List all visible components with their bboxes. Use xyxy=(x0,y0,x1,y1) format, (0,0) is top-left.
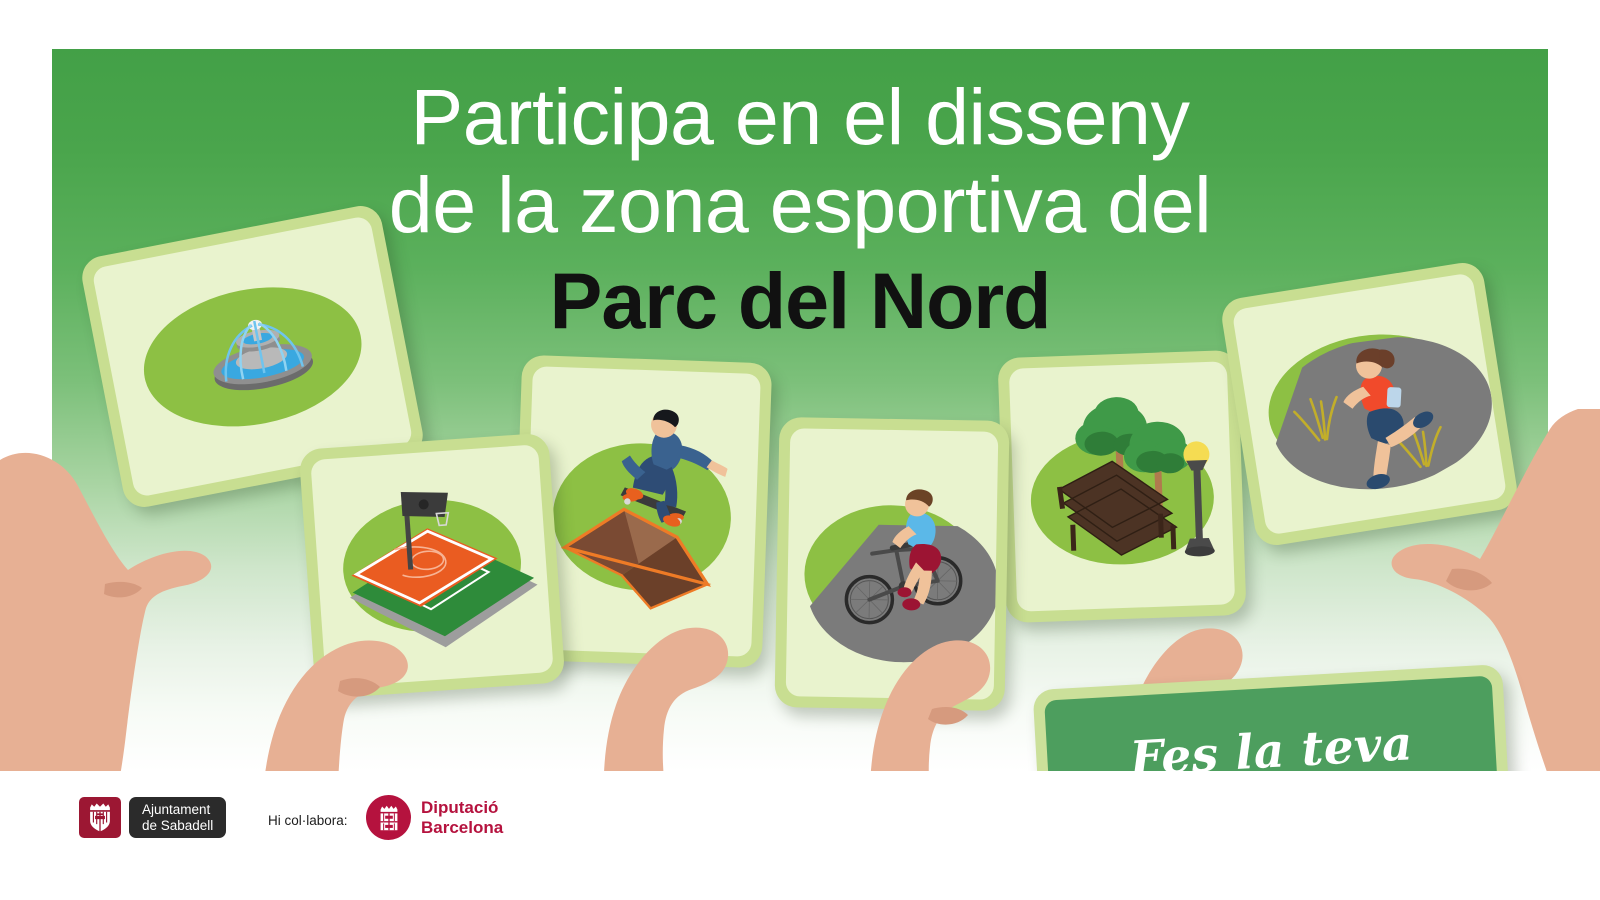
sabadell-shield-icon xyxy=(79,797,121,838)
card-park-bench[interactable] xyxy=(997,350,1246,623)
sports-court-icon xyxy=(310,444,553,687)
card-cyclist[interactable] xyxy=(774,417,1009,711)
crown-shield-icon xyxy=(86,802,114,833)
ajuntament-line2: de Sabadell xyxy=(142,818,213,834)
poster-stage: Participa en el disseny de la zona espor… xyxy=(0,0,1600,900)
runner-icon xyxy=(1232,272,1508,535)
footer: Ajuntament de Sabadell Hi col·labora: Di… xyxy=(0,771,1600,900)
cyclist-icon xyxy=(786,428,999,700)
banner: Participa en el disseny de la zona espor… xyxy=(52,49,1548,771)
ajuntament-line1: Ajuntament xyxy=(142,802,213,818)
logo-diputacio-barcelona[interactable]: Diputació Barcelona xyxy=(366,795,503,840)
collaborator-label: Hi col·labora: xyxy=(268,813,348,828)
diputacio-disc-icon xyxy=(366,795,411,840)
diputacio-line2: Barcelona xyxy=(421,818,503,838)
diputacio-name: Diputació Barcelona xyxy=(421,798,503,838)
card-sports-court-inner xyxy=(310,444,553,687)
park-bench-icon xyxy=(1009,361,1235,611)
card-cyclist-inner xyxy=(786,428,999,700)
card-sports-court[interactable] xyxy=(299,433,566,700)
card-runner[interactable] xyxy=(1219,260,1520,548)
logo-ajuntament-sabadell[interactable]: Ajuntament de Sabadell xyxy=(79,797,226,838)
ajuntament-name: Ajuntament de Sabadell xyxy=(129,797,226,838)
card-park-bench-inner xyxy=(1009,361,1235,611)
crown-shield-icon xyxy=(376,804,402,832)
diputacio-line1: Diputació xyxy=(421,798,503,818)
card-runner-inner xyxy=(1232,272,1508,535)
